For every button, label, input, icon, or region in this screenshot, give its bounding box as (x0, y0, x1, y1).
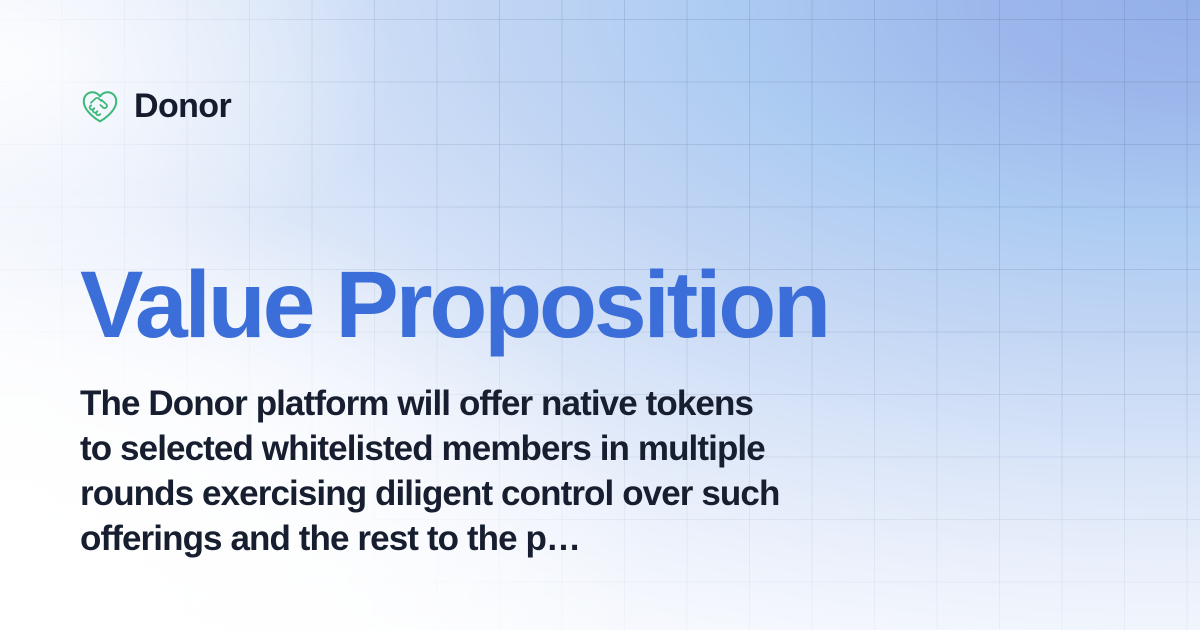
handshake-heart-icon (80, 86, 120, 126)
description-line: to selected whitelisted members in multi… (80, 426, 880, 471)
card-content: Donor Value Proposition The Donor platfo… (0, 0, 1200, 630)
og-card: Donor Value Proposition The Donor platfo… (0, 0, 1200, 630)
description-line: The Donor platform will offer native tok… (80, 381, 880, 426)
description-line: rounds exercising diligent control over … (80, 471, 880, 516)
brand-name: Donor (134, 89, 231, 123)
page-description: The Donor platform will offer native tok… (80, 381, 880, 561)
page-title: Value Proposition (80, 258, 828, 353)
brand-lockup: Donor (80, 80, 231, 132)
description-line: offerings and the rest to the p… (80, 516, 880, 561)
